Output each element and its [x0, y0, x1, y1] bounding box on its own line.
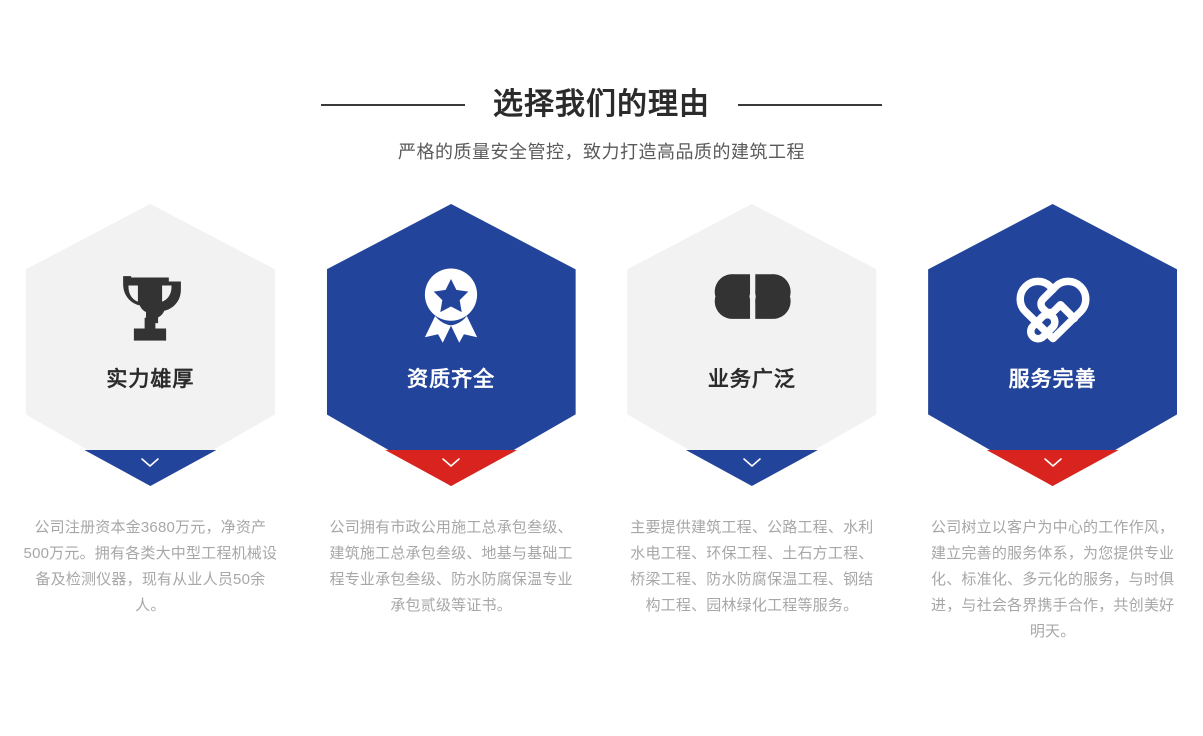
heading-rule-left: [321, 104, 465, 106]
feature-description: 公司树立以客户为中心的工作作风，建立完善的服务体系，为您提供专业化、标准化、多元…: [902, 515, 1203, 645]
feature-card-qualification[interactable]: 资质齐全: [301, 198, 602, 490]
feature-card-label: 业务广泛: [708, 365, 796, 395]
heart-handshake-icon: [1005, 259, 1101, 355]
why-choose-us-section: 选择我们的理由 严格的质量安全管控，致力打造高品质的建筑工程: [0, 0, 1203, 736]
feature-card-strength[interactable]: 实力雄厚: [0, 198, 301, 490]
feature-description-list: 公司注册资本金3680万元，净资产500万元。拥有各类大中型工程机械设备及检测仪…: [0, 515, 1203, 645]
hexagon-badge: 资质齐全: [327, 204, 576, 486]
four-petal-clover-icon: [704, 259, 800, 355]
hexagon-wrapper: 实力雄厚: [17, 198, 284, 490]
hexagon-badge: 业务广泛: [627, 204, 876, 486]
feature-card-label: 实力雄厚: [106, 365, 194, 395]
hexagon-wrapper: 资质齐全: [318, 198, 585, 490]
hexagon-badge: 服务完善: [928, 204, 1177, 486]
page-title: 选择我们的理由: [493, 84, 710, 126]
hexagon-wrapper: 业务广泛: [618, 198, 885, 490]
feature-card-business-scope[interactable]: 业务广泛: [602, 198, 903, 490]
feature-description: 主要提供建筑工程、公路工程、水利水电工程、环保工程、土石方工程、桥梁工程、防水防…: [602, 515, 903, 645]
feature-card-service[interactable]: 服务完善: [902, 198, 1203, 490]
hexagon-wrapper: 服务完善: [919, 198, 1186, 490]
chevron-down-icon[interactable]: [1042, 456, 1064, 474]
chevron-down-icon[interactable]: [440, 456, 462, 474]
heading-row: 选择我们的理由: [0, 84, 1203, 126]
heading-rule-right: [738, 104, 882, 106]
chevron-down-icon[interactable]: [139, 456, 161, 474]
hexagon-badge: 实力雄厚: [26, 204, 275, 486]
feature-card-label: 服务完善: [1009, 365, 1097, 395]
award-medal-icon: [403, 259, 499, 355]
chevron-down-icon[interactable]: [741, 456, 763, 474]
feature-card-label: 资质齐全: [407, 365, 495, 395]
feature-description: 公司注册资本金3680万元，净资产500万元。拥有各类大中型工程机械设备及检测仪…: [0, 515, 301, 645]
feature-card-list: 实力雄厚: [0, 198, 1203, 490]
feature-description: 公司拥有市政公用施工总承包叁级、建筑施工总承包叁级、地基与基础工程专业承包叁级、…: [301, 515, 602, 645]
section-heading: 选择我们的理由 严格的质量安全管控，致力打造高品质的建筑工程: [0, 84, 1203, 166]
section-subtitle: 严格的质量安全管控，致力打造高品质的建筑工程: [0, 138, 1203, 166]
trophy-icon: [102, 259, 198, 355]
